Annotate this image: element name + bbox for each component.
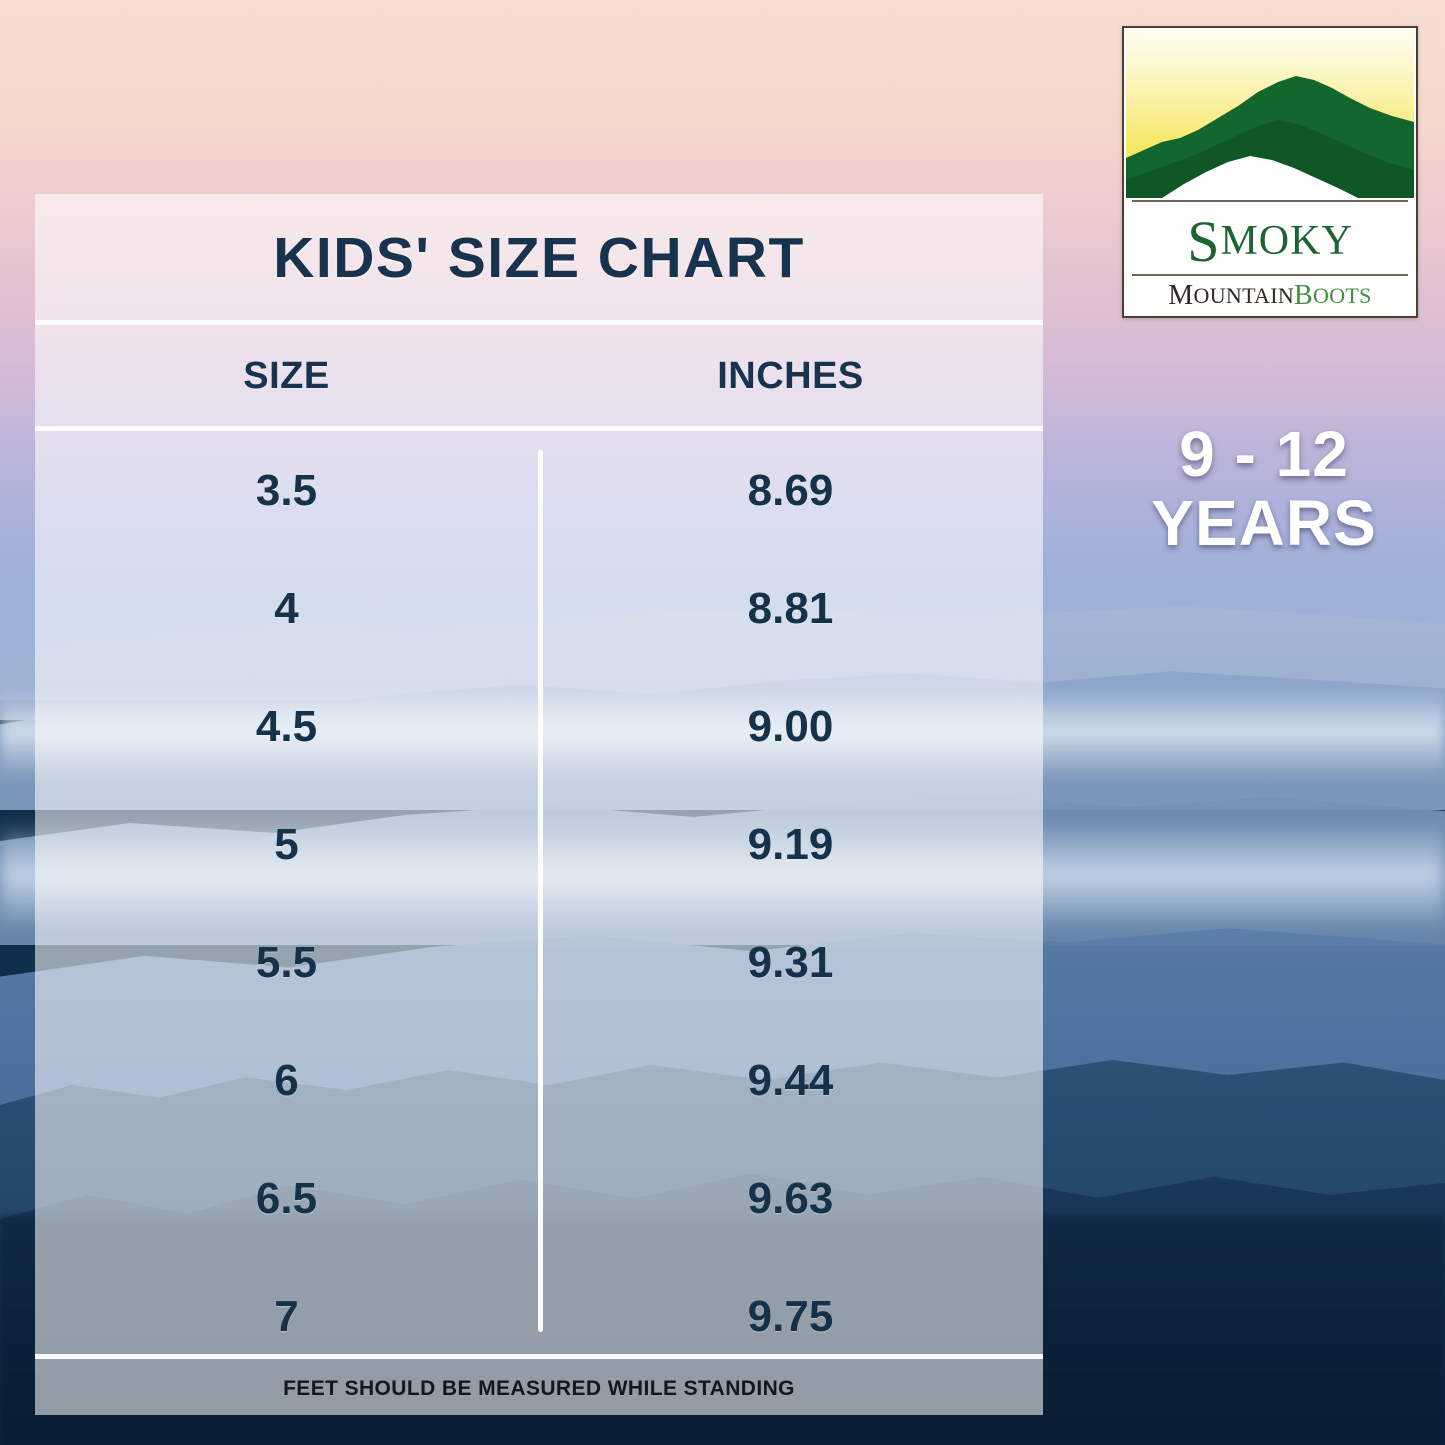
cell-inches: 8.81 bbox=[538, 584, 1043, 634]
size-chart-graphic: KIDS' SIZE CHART SIZE INCHES 3.5 8.69 4 … bbox=[0, 0, 1445, 1445]
cell-inches: 9.19 bbox=[538, 820, 1043, 870]
cell-inches: 9.00 bbox=[538, 702, 1043, 752]
logo-sub-boots-initial: B bbox=[1294, 280, 1313, 312]
cell-inches: 8.69 bbox=[538, 466, 1043, 516]
table-row: 6 9.44 bbox=[35, 1022, 1043, 1140]
cell-size: 7 bbox=[35, 1292, 538, 1342]
table-row: 4 8.81 bbox=[35, 550, 1043, 668]
age-range-line2: YEARS bbox=[1098, 489, 1430, 558]
brand-logo: SMOKY MOUNTAINBOOTS bbox=[1122, 26, 1418, 318]
size-chart-card: KIDS' SIZE CHART SIZE INCHES 3.5 8.69 4 … bbox=[35, 194, 1043, 1415]
cell-size: 4 bbox=[35, 584, 538, 634]
cell-size: 4.5 bbox=[35, 702, 538, 752]
age-range-line1: 9 - 12 bbox=[1098, 420, 1430, 489]
cell-inches: 9.63 bbox=[538, 1174, 1043, 1224]
logo-wordmark: SMOKY bbox=[1124, 204, 1416, 278]
table-row: 5 9.19 bbox=[35, 786, 1043, 904]
age-range-badge: 9 - 12 YEARS bbox=[1098, 420, 1430, 558]
table-row: 6.5 9.63 bbox=[35, 1140, 1043, 1258]
logo-mountain-icon bbox=[1126, 30, 1414, 198]
table-row: 4.5 9.00 bbox=[35, 668, 1043, 786]
table-row: 3.5 8.69 bbox=[35, 432, 1043, 550]
cell-inches: 9.44 bbox=[538, 1056, 1043, 1106]
logo-wordmark-rest: MOKY bbox=[1220, 217, 1352, 265]
divider-under-title bbox=[35, 320, 1043, 325]
divider-above-footnote bbox=[35, 1354, 1043, 1359]
logo-sub-mountain-rest: OUNTAIN bbox=[1194, 283, 1295, 309]
cell-size: 3.5 bbox=[35, 466, 538, 516]
divider-under-header bbox=[35, 426, 1043, 431]
table-header-row: SIZE INCHES bbox=[35, 326, 1043, 426]
measurement-footnote: FEET SHOULD BE MEASURED WHILE STANDING bbox=[35, 1362, 1043, 1415]
table-row: 5.5 9.31 bbox=[35, 904, 1043, 1022]
cell-size: 5.5 bbox=[35, 938, 538, 988]
cell-size: 6 bbox=[35, 1056, 538, 1106]
cell-inches: 9.75 bbox=[538, 1292, 1043, 1342]
logo-subtitle: MOUNTAINBOOTS bbox=[1124, 276, 1416, 316]
column-header-inches: INCHES bbox=[538, 355, 1043, 398]
cell-size: 5 bbox=[35, 820, 538, 870]
logo-rule-top bbox=[1132, 200, 1408, 202]
table-body: 3.5 8.69 4 8.81 4.5 9.00 5 9.19 5.5 9.31… bbox=[35, 432, 1043, 1352]
logo-sub-mountain-initial: M bbox=[1168, 280, 1193, 312]
logo-wordmark-initial: S bbox=[1187, 208, 1220, 275]
cell-size: 6.5 bbox=[35, 1174, 538, 1224]
logo-mountain-shape bbox=[1126, 30, 1414, 198]
cell-inches: 9.31 bbox=[538, 938, 1043, 988]
logo-sub-boots-rest: OOTS bbox=[1313, 283, 1372, 309]
column-header-size: SIZE bbox=[35, 355, 538, 398]
page-title: KIDS' SIZE CHART bbox=[35, 194, 1043, 322]
